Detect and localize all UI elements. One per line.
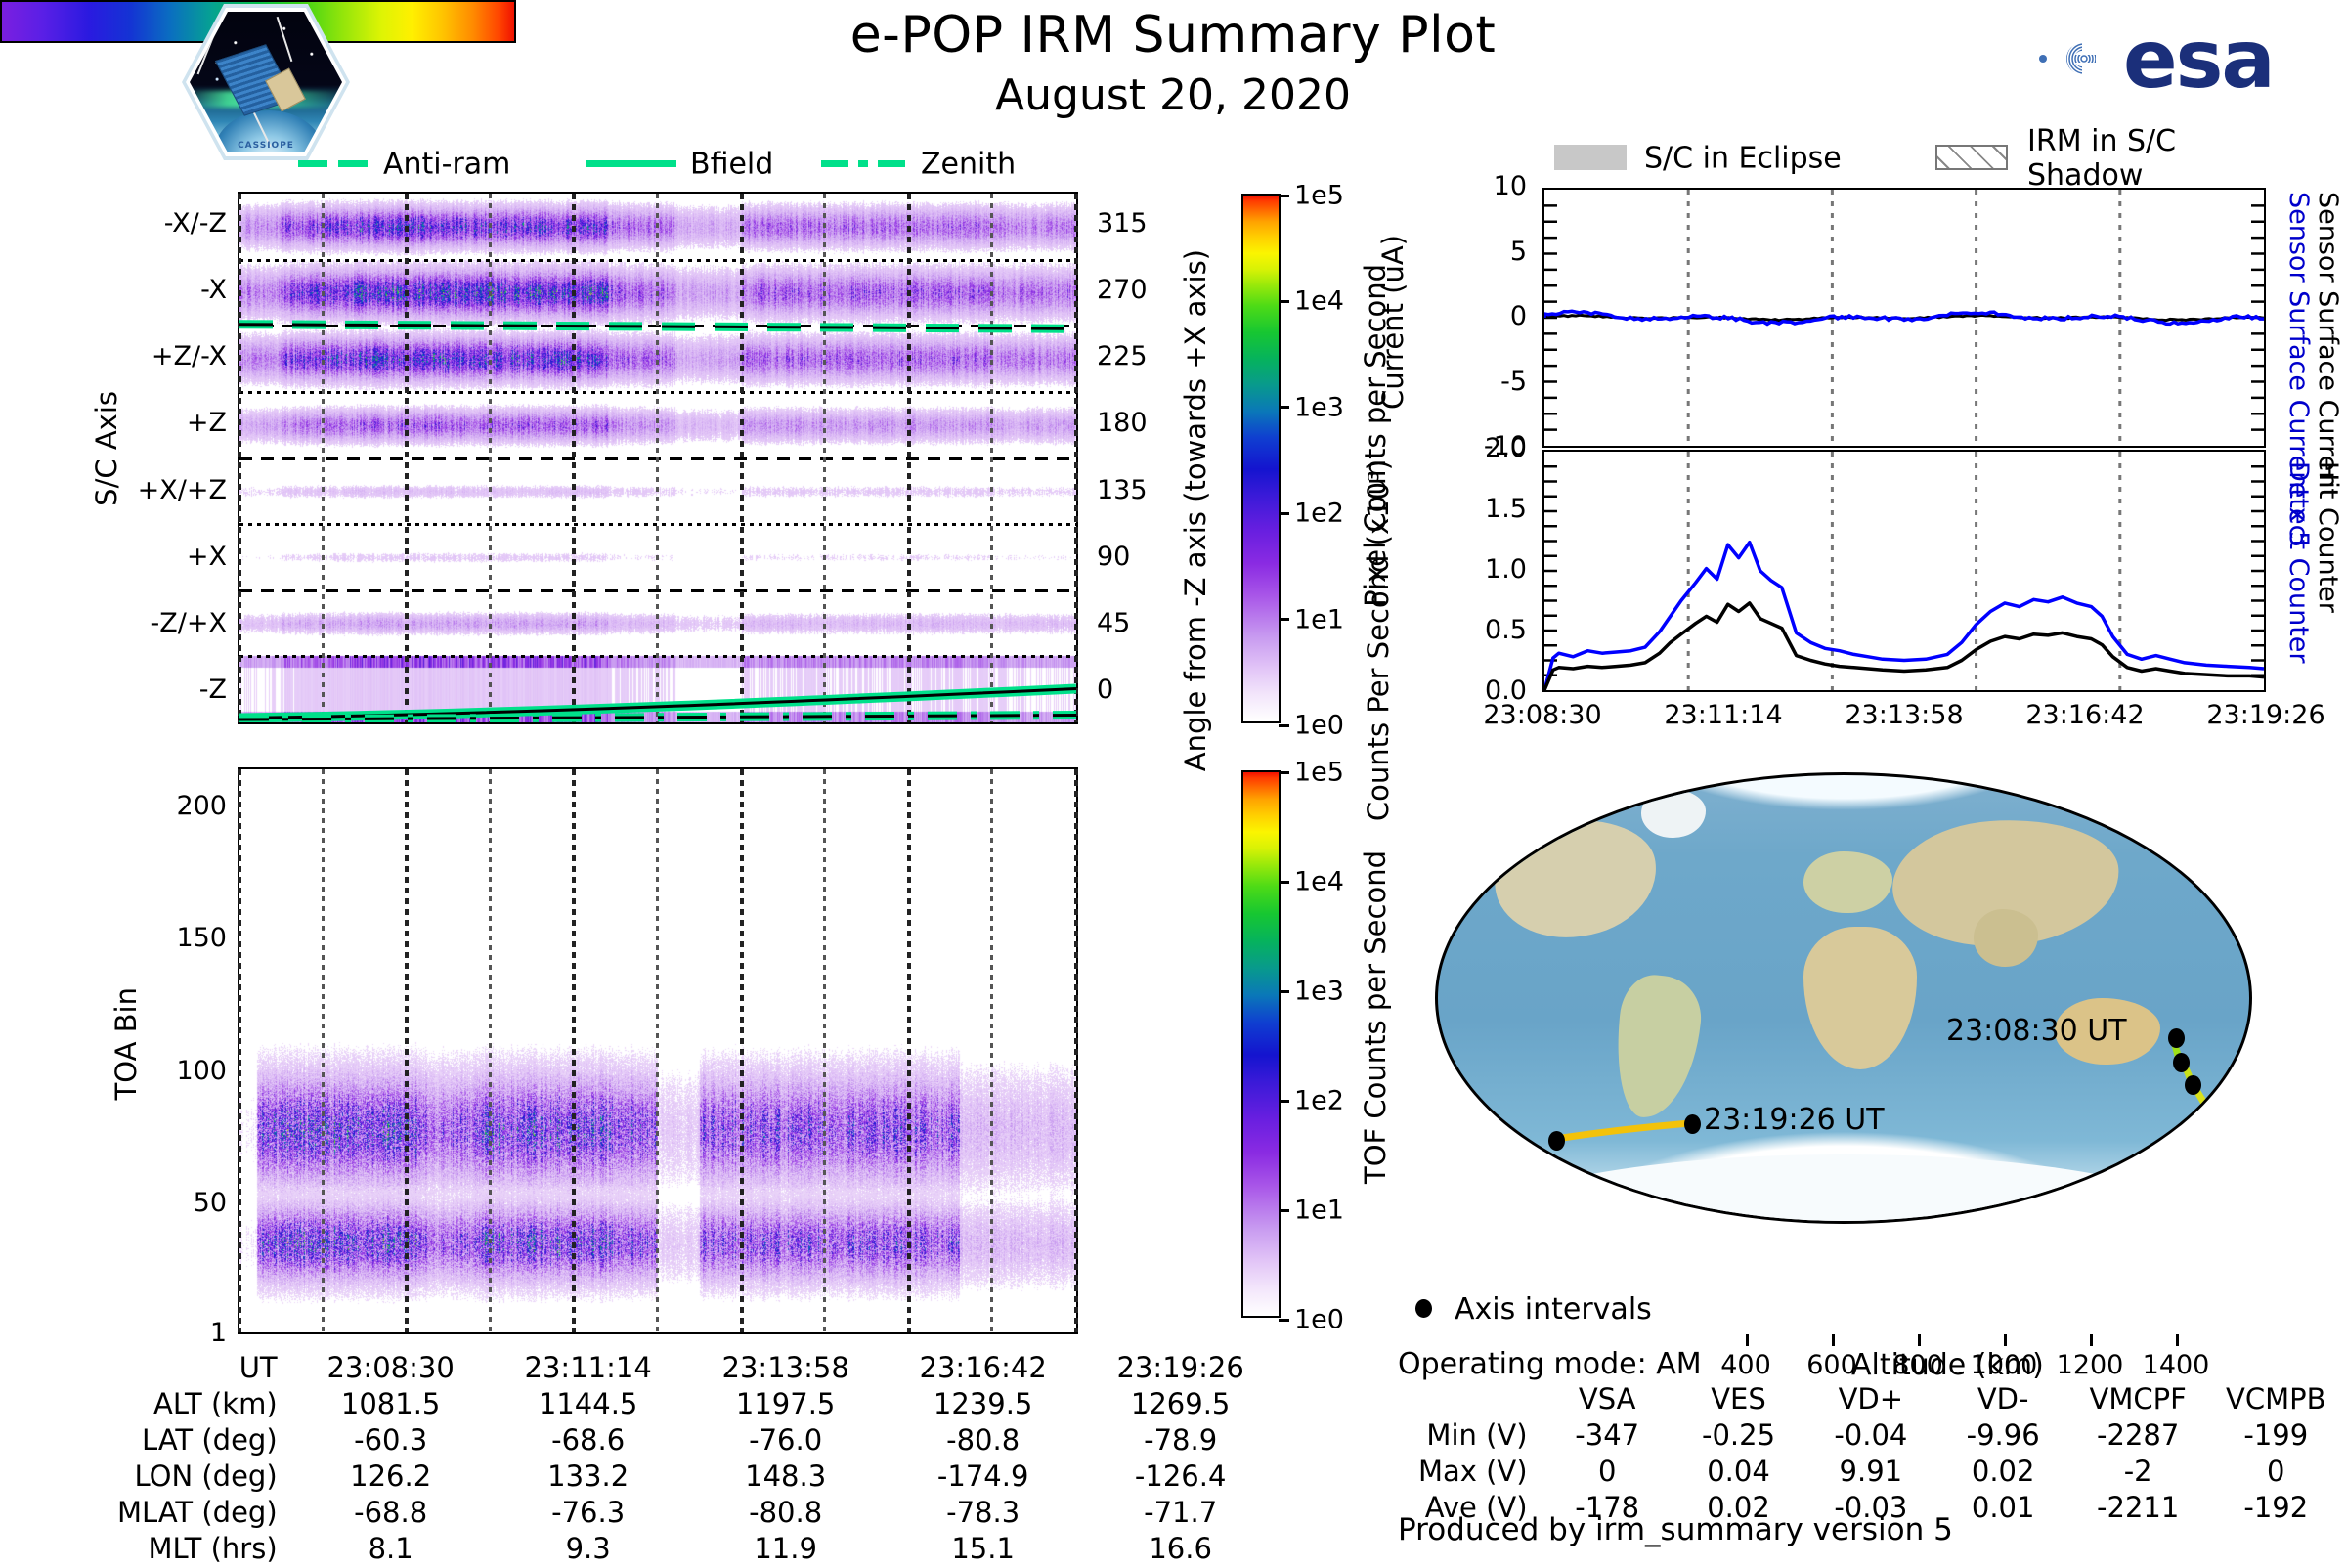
map-point-interval-1 [2173, 1053, 2190, 1072]
ephemeris-cell: 23:16:42 [886, 1351, 1081, 1385]
toa-time-gridline [1074, 769, 1078, 1332]
page-title: e-POP IRM Summary Plot [0, 6, 2346, 65]
ephemeris-cell: 1239.5 [886, 1387, 1081, 1421]
voltage-cell: 0.01 [1938, 1491, 2068, 1525]
sc-axis-ylabel: S/C Axis [90, 391, 123, 506]
voltage-table: VSAVESVD+VD-VMCPFVCMPBMin (V)-347-0.25-0… [1398, 1380, 2346, 1527]
ephemeris-cell: 1081.5 [293, 1387, 489, 1421]
tof-counts-colorbar-tick [1279, 881, 1289, 884]
cps-tick-1.0: 1.0 [1417, 554, 1527, 585]
voltage-column-header: VSA [1543, 1382, 1672, 1416]
voltage-row-label: Max (V) [1400, 1455, 1542, 1489]
ephemeris-row-label: ALT (km) [117, 1387, 291, 1421]
operating-mode-label: Operating mode: AM [1398, 1347, 1702, 1381]
toa-bin-spectrogram[interactable] [238, 767, 1078, 1334]
cps-xtick-231926: 23:19:26 [2206, 700, 2324, 730]
ephemeris-row-label: MLAT (deg) [117, 1496, 291, 1530]
tof-counts-colorbar-tick [1279, 1319, 1289, 1322]
voltage-cell: -2211 [2070, 1491, 2206, 1525]
voltage-corner-cell [1400, 1382, 1542, 1416]
pixel-counts-colorbar-label-1e0: 1e0 [1294, 711, 1344, 741]
axis-intervals-label: Axis intervals [1455, 1292, 1652, 1327]
tof-counts-colorbar-tick [1279, 1209, 1289, 1212]
ephemeris-cell: -126.4 [1083, 1459, 1279, 1494]
cps-xtick-labels: 23:08:3023:11:1423:13:5823:16:4223:19:26 [1542, 700, 2266, 735]
cps-xtick-231114: 23:11:14 [1664, 700, 1782, 730]
toa-time-gridline [907, 769, 911, 1332]
voltage-row: Min (V)-347-0.25-0.04-9.96-2287-199 [1400, 1418, 2344, 1453]
sc-axis-angle-tick-labels: 31527022518013590450 [1087, 192, 1175, 724]
sc-axis-tick-ZX: +Z/-X [133, 341, 227, 371]
legend-swatch-sc-eclipse [1554, 145, 1627, 170]
voltage-cell: 9.91 [1805, 1455, 1935, 1489]
map-point-start [2168, 1028, 2185, 1048]
voltage-cell: -199 [2208, 1418, 2344, 1453]
current-right-label-black: Sensor Surface Current [2313, 192, 2343, 499]
esa-logo: esa [2014, 8, 2297, 110]
cps-xtick-230830: 23:08:30 [1483, 700, 1601, 730]
sc-axis-angle-label: Angle from -Z axis (towards +X axis) [1179, 249, 1212, 771]
tof-counts-colorbar-tick [1279, 771, 1289, 774]
current-ylabel: Current (uA) [1376, 235, 1410, 410]
toa-tick-200: 200 [143, 791, 227, 821]
tof-counts-colorbar-label-1e2: 1e2 [1294, 1086, 1344, 1116]
voltage-header-row: VSAVESVD+VD-VMCPFVCMPB [1400, 1382, 2344, 1416]
ephemeris-cell: 1269.5 [1083, 1387, 1279, 1421]
pixel-counts-colorbar-tick [1279, 406, 1289, 409]
ephemeris-cell: 23:08:30 [293, 1351, 489, 1385]
voltage-cell: -9.96 [1938, 1418, 2068, 1453]
map-point-interval-2 [2185, 1075, 2201, 1095]
page-subtitle: August 20, 2020 [0, 70, 2346, 120]
cps-tick-2.0: 2.0 [1417, 433, 1527, 463]
altitude-tick-label-1200: 1200 [2057, 1350, 2124, 1380]
sc-angle-tick-180: 180 [1097, 408, 1148, 438]
tof-counts-colorbar: 1e01e11e21e31e41e5 [1241, 770, 1281, 1318]
ephemeris-cell: -78.3 [886, 1496, 1081, 1530]
toa-time-gridline [656, 769, 659, 1332]
current-tick--5: -5 [1425, 367, 1527, 397]
map-point-interval-3 [1684, 1114, 1701, 1134]
ephemeris-table: UT23:08:3023:11:1423:13:5823:16:4223:19:… [115, 1349, 1281, 1568]
sc-axis-ytick-labels: -X/-Z-X+Z/-X+Z+X/+Z+X-Z/+X-Z [137, 192, 231, 724]
pixel-counts-colorbar-tick [1279, 512, 1289, 515]
sc-axis-tick-X: -X [133, 275, 227, 305]
ephemeris-cell: 9.3 [491, 1532, 686, 1566]
sc-axis-tick-X: +X [133, 542, 227, 572]
footer-produced-by: Produced by irm_summary version 5 [1398, 1512, 1953, 1547]
map-label-start: 23:08:30 UT [1946, 1014, 2127, 1048]
toa-time-gridline [990, 769, 993, 1332]
ephemeris-cell: -71.7 [1083, 1496, 1279, 1530]
voltage-cell: -2 [2070, 1455, 2206, 1489]
sc-angle-tick-315: 315 [1097, 208, 1148, 239]
sc-angle-tick-0: 0 [1097, 675, 1113, 705]
tof-counts-colorbar-label-1e5: 1e5 [1294, 758, 1344, 788]
ephemeris-row-label: UT [117, 1351, 291, 1385]
cps-xtick-231642: 23:16:42 [2025, 700, 2144, 730]
tof-counts-colorbar-label: TOF Counts per Second [1359, 850, 1392, 1184]
altitude-tick-label-600: 600 [1806, 1350, 1857, 1380]
ephemeris-cell: -60.3 [293, 1423, 489, 1458]
voltage-row: Max (V)00.049.910.02-20 [1400, 1455, 2344, 1489]
esa-mark-icon [2014, 14, 2119, 104]
sc-axis-tick-Z: -Z [133, 675, 227, 705]
ephemeris-cell: 1197.5 [688, 1387, 884, 1421]
ephemeris-cell: 16.6 [1083, 1532, 1279, 1566]
ephemeris-row-label: LAT (deg) [117, 1423, 291, 1458]
ephemeris-cell: -76.0 [688, 1423, 884, 1458]
current-tick-10: 10 [1425, 171, 1527, 201]
voltage-column-header: VD+ [1805, 1382, 1935, 1416]
legend-swatch-anti-ram [298, 160, 327, 167]
ephemeris-cell: 126.2 [293, 1459, 489, 1494]
ephemeris-row: UT23:08:3023:11:1423:13:5823:16:4223:19:… [117, 1351, 1279, 1385]
sc-axis-tick-XZ: +X/+Z [133, 475, 227, 505]
pixel-counts-colorbar-tick [1279, 195, 1289, 197]
sc-angle-tick-90: 90 [1097, 542, 1130, 572]
ephemeris-row: ALT (km)1081.51144.51197.51239.51269.5 [117, 1387, 1279, 1421]
voltage-cell: 0.04 [1673, 1455, 1803, 1489]
map-point-end [1548, 1131, 1565, 1151]
toa-tick-1: 1 [143, 1318, 227, 1348]
ephemeris-cell: -76.3 [491, 1496, 686, 1530]
legend-swatch-bfield [586, 160, 676, 167]
altitude-colorbar-ticks: 400600800100012001400 [1703, 1266, 2219, 1334]
altitude-tick [1918, 1334, 1921, 1346]
map-label-end: 23:19:26 UT [1704, 1103, 1885, 1137]
toa-tick-150: 150 [143, 923, 227, 953]
axis-intervals-legend: Axis intervals [1408, 1288, 1672, 1328]
voltage-column-header: VMCPF [2070, 1382, 2206, 1416]
cps-right-label-black: Hit Counter [2313, 461, 2343, 613]
current-plot[interactable] [1542, 188, 2266, 448]
altitude-tick [2090, 1334, 2093, 1346]
ephemeris-row-label: LON (deg) [117, 1459, 291, 1494]
pixel-counts-colorbar: 1e01e11e21e31e41e5 [1241, 194, 1281, 723]
sc-angle-tick-135: 135 [1097, 475, 1148, 505]
voltage-cell: 0 [1543, 1455, 1672, 1489]
ephemeris-row: MLT (hrs)8.19.311.915.116.6 [117, 1532, 1279, 1566]
cps-ylabel: Counts Per Second (x10³) [1361, 459, 1396, 821]
legend-label-zenith: Zenith [921, 148, 1016, 182]
pixel-counts-colorbar-label-1e5: 1e5 [1294, 181, 1344, 211]
cps-tick-1.5: 1.5 [1417, 494, 1527, 524]
cps-right-label-blue: Detect Counter [2283, 461, 2314, 664]
ephemeris-cell: -68.8 [293, 1496, 489, 1530]
altitude-tick [2004, 1334, 2007, 1346]
toa-tick-50: 50 [143, 1188, 227, 1218]
voltage-cell: -0.04 [1805, 1418, 1935, 1453]
altitude-tick-label-1400: 1400 [2143, 1350, 2210, 1380]
legend-swatch-irm-shadow [1935, 145, 2008, 170]
ephemeris-row-label: MLT (hrs) [117, 1532, 291, 1566]
cassiope-logo: CASSIOPE [182, 4, 350, 160]
pixel-counts-colorbar-tick [1279, 724, 1289, 727]
ephemeris-cell: -80.8 [886, 1423, 1081, 1458]
ephemeris-cell: -174.9 [886, 1459, 1081, 1494]
toa-time-gridline [572, 769, 576, 1332]
voltage-column-header: VD- [1938, 1382, 2068, 1416]
voltage-cell: -192 [2208, 1491, 2344, 1525]
voltage-cell: 0 [2208, 1455, 2344, 1489]
voltage-cell: -2287 [2070, 1418, 2206, 1453]
pixel-counts-colorbar-label-1e1: 1e1 [1294, 604, 1344, 634]
toa-time-gridline [322, 769, 325, 1332]
orbit-map[interactable]: 23:08:30 UT 23:19:26 UT [1435, 772, 2252, 1224]
pixel-counts-colorbar-tick [1279, 618, 1289, 621]
current-tick-5: 5 [1425, 237, 1527, 267]
sc-angle-tick-270: 270 [1097, 275, 1148, 305]
legend-swatch-zenith-dot [858, 160, 868, 167]
ephemeris-cell: 23:11:14 [491, 1351, 686, 1385]
altitude-tick [2176, 1334, 2179, 1346]
voltage-cell: -0.25 [1673, 1418, 1803, 1453]
pixel-counts-colorbar-label-1e2: 1e2 [1294, 499, 1344, 529]
sc-axis-tick-ZX: -Z/+X [133, 608, 227, 638]
legend-swatch-zenith-2 [878, 160, 905, 167]
tof-counts-colorbar-tick [1279, 990, 1289, 993]
esa-logo-text: esa [2123, 14, 2274, 107]
ephemeris-cell: 133.2 [491, 1459, 686, 1494]
toa-time-gridline [238, 769, 241, 1332]
ephemeris-cell: 23:13:58 [688, 1351, 884, 1385]
legend-label-anti-ram: Anti-ram [383, 148, 510, 182]
altitude-tick-label-400: 400 [1720, 1350, 1771, 1380]
toa-time-gridline [740, 769, 744, 1332]
ephemeris-cell: 148.3 [688, 1459, 884, 1494]
cps-tick-0.5: 0.5 [1417, 615, 1527, 645]
cps-series-hit-counter [1544, 603, 2264, 690]
toa-time-gridline [823, 769, 826, 1332]
current-ytick-labels: -10-50510 [1431, 188, 1533, 448]
ephemeris-cell: 11.9 [688, 1532, 884, 1566]
ephemeris-row: LAT (deg)-60.3-68.6-76.0-80.8-78.9 [117, 1423, 1279, 1458]
current-tick-0: 0 [1425, 301, 1527, 331]
legend-label-irm-shadow: IRM in S/C Shadow [2027, 124, 2278, 193]
voltage-column-header: VCMPB [2208, 1382, 2344, 1416]
sc-axis-tick-XZ: -X/-Z [133, 208, 227, 239]
voltage-row-label: Min (V) [1400, 1418, 1542, 1453]
legend-swatch-anti-ram-2 [338, 160, 368, 167]
ephemeris-cell: 15.1 [886, 1532, 1081, 1566]
world-map-ellipse: 23:08:30 UT 23:19:26 UT [1435, 772, 2252, 1224]
toa-time-gridline [489, 769, 492, 1332]
axis-interval-dot-icon [1415, 1299, 1432, 1318]
ephemeris-cell: 8.1 [293, 1532, 489, 1566]
counts-per-second-plot[interactable] [1542, 450, 2266, 692]
tof-counts-colorbar-label-1e0: 1e0 [1294, 1305, 1344, 1335]
pixel-counts-colorbar-label-1e3: 1e3 [1294, 392, 1344, 422]
tof-counts-colorbar-label-1e1: 1e1 [1294, 1196, 1344, 1226]
ephemeris-cell: -78.9 [1083, 1423, 1279, 1458]
ephemeris-row: LON (deg)126.2133.2148.3-174.9-126.4 [117, 1459, 1279, 1494]
sc-angle-tick-45: 45 [1097, 608, 1130, 638]
altitude-tick [1832, 1334, 1835, 1346]
toa-bin-ylabel: TOA Bin [109, 987, 143, 1100]
ephemeris-cell: -80.8 [688, 1496, 884, 1530]
pixel-counts-colorbar-tick [1279, 300, 1289, 303]
voltage-cell: -347 [1543, 1418, 1672, 1453]
legend-swatch-zenith [821, 160, 848, 167]
ephemeris-cell: 23:19:26 [1083, 1351, 1279, 1385]
sc-axis-spectrogram[interactable] [238, 192, 1078, 724]
altitude-tick [1746, 1334, 1749, 1346]
sc-axis-overlay-curves [239, 194, 1076, 722]
ephemeris-cell: 1144.5 [491, 1387, 686, 1421]
ephemeris-cell: -68.6 [491, 1423, 686, 1458]
legend-label-bfield: Bfield [690, 148, 773, 182]
ephemeris-row: MLAT (deg)-68.8-76.3-80.8-78.3-71.7 [117, 1496, 1279, 1530]
sc-angle-tick-225: 225 [1097, 341, 1148, 371]
sc-axis-tick-Z: +Z [133, 408, 227, 438]
tof-counts-colorbar-label-1e3: 1e3 [1294, 977, 1344, 1007]
spectrogram-legend: Anti-ram Bfield Zenith [293, 147, 1036, 186]
tof-counts-colorbar-label-1e4: 1e4 [1294, 867, 1344, 897]
cps-xtick-231358: 23:13:58 [1845, 700, 1963, 730]
toa-time-gridline [405, 769, 409, 1332]
eclipse-legend: S/C in Eclipse IRM in S/C Shadow [1554, 137, 2278, 178]
cps-ytick-labels: 0.00.51.01.52.0 [1423, 450, 1533, 692]
voltage-cell: 0.02 [1938, 1455, 2068, 1489]
toa-tick-100: 100 [143, 1056, 227, 1086]
legend-label-sc-eclipse: S/C in Eclipse [1644, 142, 1842, 176]
tof-counts-colorbar-tick [1279, 1100, 1289, 1103]
pixel-counts-colorbar-label-1e4: 1e4 [1294, 286, 1344, 317]
voltage-column-header: VES [1673, 1382, 1803, 1416]
toa-bin-ytick-labels: 150100150200 [147, 767, 231, 1334]
altitude-colorbar-label: Altitude (km) [1851, 1348, 2044, 1382]
